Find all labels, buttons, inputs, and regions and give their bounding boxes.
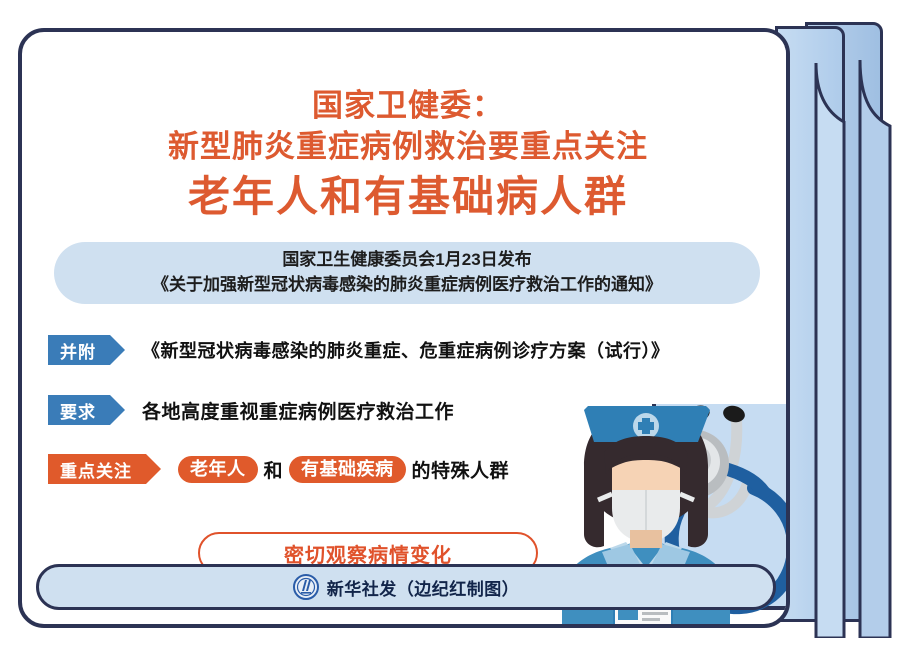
badge-attachment: 并附 bbox=[48, 335, 110, 365]
badge-requirement: 要求 bbox=[48, 395, 110, 425]
badge-focus: 重点关注 bbox=[48, 454, 146, 484]
list-item-requirement-text: 各地高度重视重症病例医疗救治工作 bbox=[142, 397, 454, 424]
main-card: 国家卫健委： 新型肺炎重症病例救治要重点关注 老年人和有基础病人群 国家卫生健康… bbox=[18, 28, 790, 628]
list-item-attachment: 并附 《新型冠状病毒感染的肺炎重症、危重症病例诊疗方案（试行）》 bbox=[48, 335, 670, 365]
source-banner: 国家卫生健康委员会1月23日发布 《关于加强新型冠状病毒感染的肺炎重症病例医疗救… bbox=[54, 242, 760, 304]
footer-credit-text: 新华社发（边纪红制图） bbox=[327, 575, 520, 600]
list-item-attachment-text: 《新型冠状病毒感染的肺炎重症、危重症病例诊疗方案（试行）》 bbox=[142, 337, 670, 363]
title-line-2: 新型肺炎重症病例救治要重点关注 bbox=[22, 126, 790, 168]
focus-suffix: 的特殊人群 bbox=[406, 456, 516, 483]
banner-line-2: 《关于加强新型冠状病毒感染的肺炎重症病例医疗救治工作的通知》 bbox=[152, 272, 662, 298]
pill-elderly: 老年人 bbox=[178, 456, 258, 483]
list-item-focus-text: 老年人和有基础疾病的特殊人群 bbox=[178, 456, 515, 483]
footer-bar: 新华社发（边纪红制图） bbox=[36, 564, 776, 610]
title-line-1: 国家卫健委： bbox=[22, 86, 790, 126]
title-line-3: 老年人和有基础病人群 bbox=[22, 170, 790, 224]
banner-line-1: 国家卫生健康委员会1月23日发布 bbox=[282, 248, 531, 272]
title-block: 国家卫健委： 新型肺炎重症病例救治要重点关注 老年人和有基础病人群 bbox=[22, 86, 790, 224]
infographic-canvas: 国家卫健委： 新型肺炎重症病例救治要重点关注 老年人和有基础病人群 国家卫生健康… bbox=[0, 0, 900, 655]
conjunction-and: 和 bbox=[258, 456, 290, 483]
list-item-requirement: 要求 各地高度重视重症病例医疗救治工作 bbox=[48, 395, 454, 425]
pill-underlying-disease: 有基础疾病 bbox=[289, 456, 406, 483]
xinhua-logo-icon bbox=[293, 574, 319, 600]
list-item-focus: 重点关注 老年人和有基础疾病的特殊人群 bbox=[48, 454, 515, 484]
